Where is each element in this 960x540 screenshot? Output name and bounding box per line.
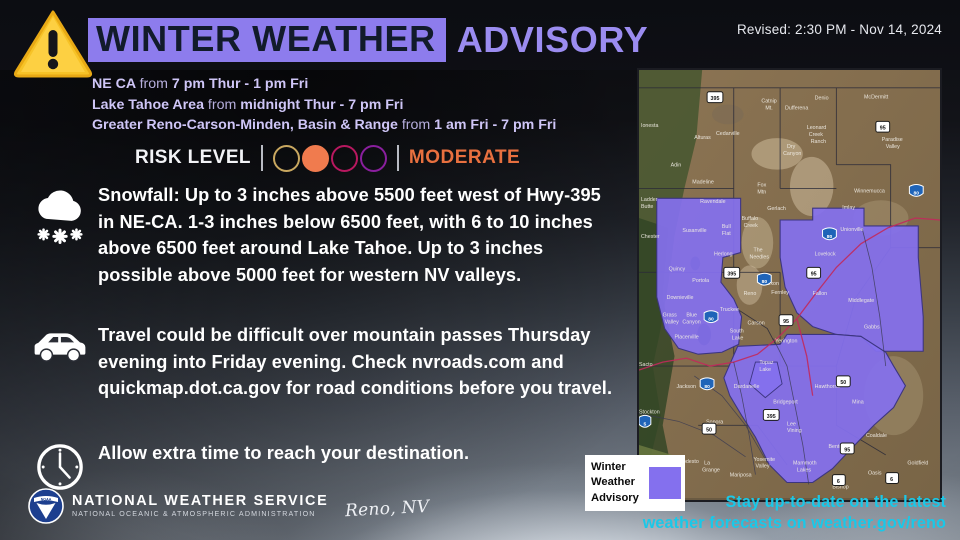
highway-shield-395: 395 <box>707 92 723 103</box>
time-block: Allow extra time to reach your destinati… <box>22 440 622 492</box>
svg-text:5: 5 <box>644 421 647 427</box>
svg-text:The: The <box>753 248 762 254</box>
svg-text:Dufferena: Dufferena <box>785 105 808 111</box>
svg-text:Mammoth: Mammoth <box>793 461 817 467</box>
svg-text:Truckee: Truckee <box>720 307 739 313</box>
svg-text:Valley: Valley <box>665 320 679 326</box>
svg-text:80: 80 <box>827 234 833 240</box>
svg-text:Canyon: Canyon <box>682 320 700 326</box>
svg-text:South: South <box>730 329 744 335</box>
highway-shield-95-c: 95 <box>779 315 793 326</box>
highway-shield-395-c: 395 <box>763 409 779 420</box>
risk-level-row: RISK LEVEL MODERATE <box>135 143 520 173</box>
svg-text:Mt.: Mt. <box>765 105 772 111</box>
highway-shield-i80-e: 80 <box>704 311 718 323</box>
svg-text:Dry: Dry <box>787 144 796 150</box>
office-signature: Reno, NV <box>345 497 430 521</box>
risk-divider-left <box>261 145 263 171</box>
revised-timestamp: Revised: 2:30 PM - Nov 14, 2024 <box>737 22 942 37</box>
svg-text:80: 80 <box>914 190 920 196</box>
warning-triangle-icon <box>12 6 94 80</box>
svg-text:Mariposa: Mariposa <box>730 473 752 479</box>
highway-shield-i80-b: 80 <box>823 228 837 240</box>
svg-text:Adin: Adin <box>671 163 682 169</box>
svg-text:Blue: Blue <box>686 313 697 319</box>
travel-text: Travel could be difficult over mountain … <box>98 322 622 402</box>
svg-text:Fallon: Fallon <box>813 291 828 297</box>
svg-text:Catnip: Catnip <box>761 99 776 105</box>
svg-text:Stockton: Stockton <box>639 409 660 415</box>
svg-text:Herlong: Herlong <box>714 252 733 258</box>
highway-shield-95-b: 95 <box>807 267 821 278</box>
promo-line-1: Stay up-to-date on the latest <box>606 492 946 513</box>
noaa-logo-icon: NOAA <box>28 488 64 524</box>
risk-dot-extreme <box>360 145 387 172</box>
svg-text:Flat: Flat <box>722 231 731 237</box>
svg-text:La: La <box>704 461 710 467</box>
svg-text:Chester: Chester <box>641 234 660 240</box>
highway-shield-i80-c: 80 <box>757 273 771 285</box>
svg-text:Grange: Grange <box>702 468 720 474</box>
svg-text:Paradise: Paradise <box>882 137 903 143</box>
svg-text:395: 395 <box>727 272 736 278</box>
svg-text:6: 6 <box>837 479 840 485</box>
time-text: Allow extra time to reach your destinati… <box>98 440 469 492</box>
highway-shield-50-a: 50 <box>836 376 850 387</box>
nws-title: NATIONAL WEATHER SERVICE <box>72 493 328 509</box>
svg-text:Reno: Reno <box>744 291 757 297</box>
svg-text:Ionesta: Ionesta <box>641 123 658 129</box>
advisory-title: WINTER WEATHER ADVISORY <box>88 18 648 62</box>
svg-text:Susanville: Susanville <box>682 228 706 234</box>
svg-text:Gerlach: Gerlach <box>767 206 786 212</box>
highway-shield-i5: 5 <box>639 415 651 427</box>
svg-text:Mina: Mina <box>852 400 864 406</box>
svg-text:Yosemite: Yosemite <box>753 457 775 463</box>
svg-text:80: 80 <box>762 279 768 285</box>
snowfall-block: Snowfall: Up to 3 inches above 5500 feet… <box>22 182 622 288</box>
highway-shield-6-b: 6 <box>832 475 845 486</box>
advisory-periods: NE CA from 7 pm Thur - 1 pm Fri Lake Tah… <box>92 74 632 136</box>
period-time: 1 am Fri - 7 pm Fri <box>434 117 556 133</box>
risk-divider-right <box>397 145 399 171</box>
svg-text:Middlegate: Middlegate <box>848 298 874 304</box>
svg-text:Ladder: Ladder <box>641 197 658 203</box>
noaa-subtitle: NATIONAL OCEANIC & ATMOSPHERIC ADMINISTR… <box>72 509 328 519</box>
period-time: midnight Thur - 7 pm Fri <box>240 97 403 113</box>
svg-text:Ranch: Ranch <box>811 139 826 145</box>
svg-text:Placerville: Placerville <box>675 334 699 340</box>
highway-shield-6-a: 6 <box>886 473 899 484</box>
snow-cloud-icon <box>22 182 98 288</box>
svg-text:95: 95 <box>783 319 789 325</box>
svg-text:Vining: Vining <box>787 428 802 434</box>
svg-text:McDermitt: McDermitt <box>864 95 889 101</box>
nws-footer: NOAA NATIONAL WEATHER SERVICE NATIONAL O… <box>28 488 430 524</box>
svg-text:Imlay: Imlay <box>842 205 855 211</box>
travel-block: Travel could be difficult over mountain … <box>22 322 622 402</box>
snowfall-text: Snowfall: Up to 3 inches above 5500 feet… <box>98 182 622 288</box>
svg-text:395: 395 <box>767 414 776 420</box>
svg-text:Bridgeport: Bridgeport <box>773 400 798 406</box>
svg-text:Cedarville: Cedarville <box>716 131 740 137</box>
svg-text:95: 95 <box>844 447 850 453</box>
svg-text:Yerington: Yerington <box>775 338 797 344</box>
advisory-title-highlight: WINTER WEATHER <box>88 18 446 62</box>
svg-text:Portola: Portola <box>692 278 709 284</box>
svg-text:Grass: Grass <box>663 313 678 319</box>
svg-text:Leonard: Leonard <box>807 125 827 131</box>
risk-level-value: MODERATE <box>409 147 520 169</box>
svg-text:Valley: Valley <box>886 144 900 150</box>
highway-shield-50-b: 50 <box>702 423 716 434</box>
svg-text:Bull: Bull <box>722 224 731 230</box>
svg-text:95: 95 <box>880 126 886 132</box>
highway-shield-395-b: 395 <box>724 267 740 278</box>
highway-shield-i80-a: 80 <box>909 184 923 196</box>
promo-line-2[interactable]: weather forecasts on weather.gov/reno <box>606 513 946 534</box>
svg-text:80: 80 <box>704 384 710 390</box>
advisory-map[interactable]: Ionesta Alturas Cedarville CatnipMt. Duf… <box>637 68 942 502</box>
svg-text:Carson: Carson <box>748 321 765 327</box>
svg-text:Coaldale: Coaldale <box>866 433 887 439</box>
risk-dot-high <box>331 145 358 172</box>
svg-text:Creek: Creek <box>744 223 759 229</box>
advisory-period-row: Lake Tahoe Area from midnight Thur - 7 p… <box>92 95 632 116</box>
svg-text:Fernley: Fernley <box>771 290 789 296</box>
risk-level-dots <box>273 145 387 172</box>
svg-text:50: 50 <box>840 380 846 386</box>
svg-text:Ravendale: Ravendale <box>700 199 725 205</box>
map-canvas[interactable]: Ionesta Alturas Cedarville CatnipMt. Duf… <box>639 70 940 498</box>
clock-icon <box>22 440 98 492</box>
period-area: Lake Tahoe Area <box>92 97 204 113</box>
svg-text:Unionville: Unionville <box>840 227 863 233</box>
svg-text:50: 50 <box>706 428 712 434</box>
period-area: Greater Reno-Carson-Minden, Basin & Rang… <box>92 117 398 133</box>
highway-shield-95-d: 95 <box>840 443 854 454</box>
svg-text:Canyon: Canyon <box>783 151 801 157</box>
risk-dot-limited <box>273 145 300 172</box>
svg-text:Madeline: Madeline <box>692 179 714 185</box>
advisory-period-row: Greater Reno-Carson-Minden, Basin & Rang… <box>92 115 632 136</box>
svg-text:Alturas: Alturas <box>694 135 711 141</box>
svg-text:6: 6 <box>890 477 893 483</box>
period-connector: from <box>208 97 236 113</box>
svg-text:Sacto: Sacto <box>639 362 653 368</box>
svg-text:Quincy: Quincy <box>669 266 686 272</box>
svg-text:Topaz: Topaz <box>759 360 774 366</box>
advisory-period-row: NE CA from 7 pm Thur - 1 pm Fri <box>92 74 632 95</box>
svg-text:Butte: Butte <box>641 204 653 210</box>
highway-shield-i80-d: 80 <box>700 378 714 390</box>
promo-banner[interactable]: Stay up-to-date on the latest weather fo… <box>606 492 946 534</box>
svg-text:Downieville: Downieville <box>667 295 694 301</box>
svg-text:Lovelock: Lovelock <box>815 252 836 258</box>
period-area: NE CA <box>92 76 136 92</box>
svg-text:95: 95 <box>811 272 817 278</box>
svg-text:Needles: Needles <box>750 254 770 260</box>
svg-text:Fox: Fox <box>757 182 766 188</box>
svg-text:80: 80 <box>708 317 714 323</box>
svg-text:395: 395 <box>711 96 720 102</box>
svg-text:NOAA: NOAA <box>41 498 52 502</box>
svg-text:Dardanelle: Dardanelle <box>734 384 760 390</box>
car-icon <box>22 322 98 402</box>
risk-level-label: RISK LEVEL <box>135 147 251 169</box>
svg-text:Valley: Valley <box>755 464 769 470</box>
period-time: 7 pm Thur - 1 pm Fri <box>172 76 308 92</box>
svg-text:Gabbs: Gabbs <box>864 325 880 331</box>
advisory-title-type: ADVISORY <box>446 19 649 61</box>
svg-text:Denio: Denio <box>815 96 829 102</box>
svg-text:Jackson: Jackson <box>676 384 696 390</box>
svg-text:Oasis: Oasis <box>868 471 882 477</box>
svg-text:Lake: Lake <box>759 367 771 373</box>
svg-text:Goldfield: Goldfield <box>907 461 928 467</box>
svg-text:Creek: Creek <box>809 132 824 138</box>
svg-text:Lake: Lake <box>732 335 744 341</box>
svg-text:Lakes: Lakes <box>797 468 812 474</box>
svg-text:Mtn: Mtn <box>757 189 766 195</box>
highway-shield-95-a: 95 <box>876 121 890 132</box>
svg-text:Winnemucca: Winnemucca <box>854 188 885 194</box>
risk-dot-moderate <box>302 145 329 172</box>
svg-text:Buffalo: Buffalo <box>742 216 758 222</box>
period-connector: from <box>140 76 168 92</box>
svg-text:Lee: Lee <box>787 421 796 427</box>
period-connector: from <box>402 117 430 133</box>
